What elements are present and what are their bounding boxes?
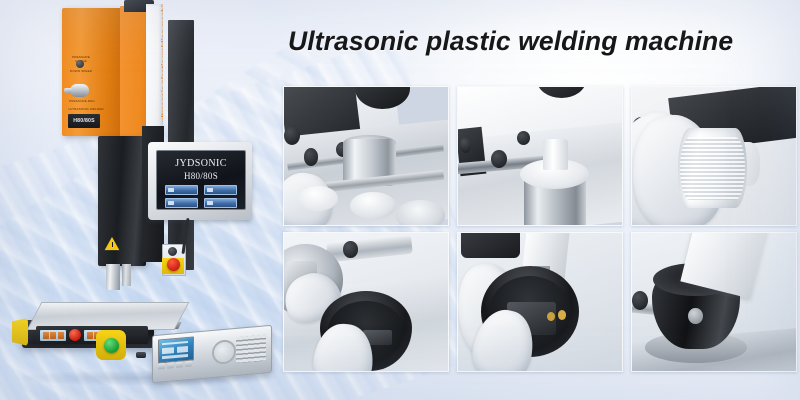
- vignette-overlay: [0, 0, 800, 400]
- banner-stage: Ultrasonic plastic welding machine PRESS…: [0, 0, 800, 400]
